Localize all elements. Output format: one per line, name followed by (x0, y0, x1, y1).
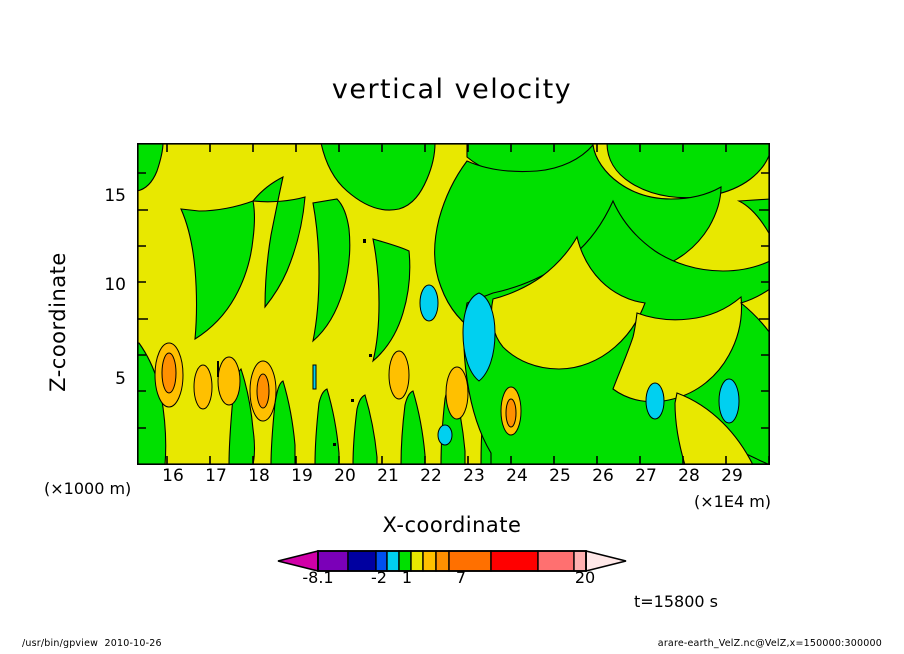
colorbar-tick-label: 20 (555, 568, 615, 587)
contour-plot (137, 143, 770, 465)
x-tick-label: 26 (583, 466, 623, 486)
x-tick-label: 21 (368, 466, 408, 486)
x-tick-label: 19 (282, 466, 322, 486)
x-axis-unit: (×1E4 m) (694, 492, 771, 511)
x-tick-label: 22 (411, 466, 451, 486)
x-tick-label: 29 (712, 466, 752, 486)
x-axis-label: X-coordinate (0, 513, 904, 537)
x-tick-label: 16 (153, 466, 193, 486)
x-tick-label: 17 (196, 466, 236, 486)
y-tick-label: 10 (86, 275, 126, 295)
y-tick-label: 15 (86, 186, 126, 206)
x-tick-label: 18 (239, 466, 279, 486)
colorbar-tick-label: 1 (377, 568, 437, 587)
x-tick-label: 28 (669, 466, 709, 486)
x-tick-label: 23 (454, 466, 494, 486)
x-tick-label: 24 (497, 466, 537, 486)
x-tick-label: 20 (325, 466, 365, 486)
y-axis-unit: (×1000 m) (44, 479, 131, 498)
page-title: vertical velocity (0, 74, 904, 105)
footer-command: /usr/bin/gpview 2010-10-26 (22, 638, 162, 649)
x-tick-label: 27 (626, 466, 666, 486)
y-tick-label: 5 (86, 369, 126, 389)
y-axis-label: Z-coordinate (46, 212, 70, 432)
colorbar-tick-label: 7 (431, 568, 491, 587)
time-annotation: t=15800 s (634, 592, 718, 611)
colorbar-tick-label: -8.1 (288, 568, 348, 587)
footer-source: arare-earth_VelZ.nc@VelZ,x=150000:300000 (658, 638, 882, 649)
x-tick-label: 25 (540, 466, 580, 486)
plot-canvas: vertical velocity (0, 0, 904, 654)
